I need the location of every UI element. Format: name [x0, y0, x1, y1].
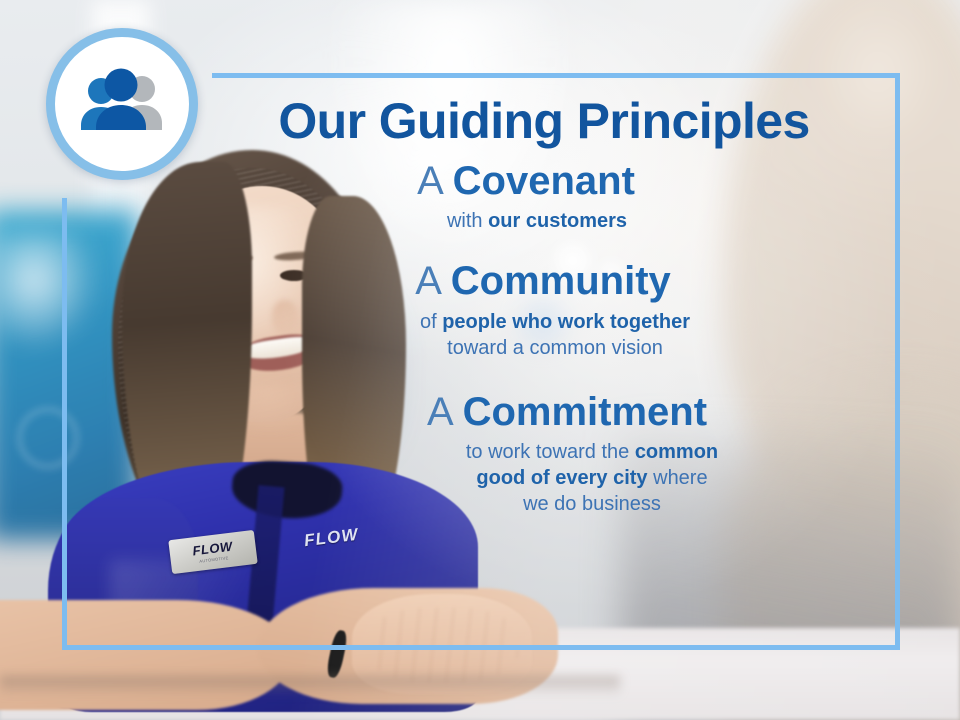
emphasis-text: good of every city [476, 467, 647, 489]
principle-heading: A Community [222, 260, 866, 302]
principle-description: to work toward the commongood of every c… [222, 439, 866, 517]
poster-root: FLOW AUTOMOTIVE FLOW [0, 0, 960, 720]
plain-text: toward a common vision [447, 337, 663, 359]
frame-border-left [62, 198, 67, 650]
principle-article: A [427, 390, 463, 434]
principle-keyword: Community [451, 259, 671, 303]
principle-description: of people who work togethertoward a comm… [222, 309, 866, 361]
principle-heading: A Covenant [222, 160, 866, 202]
plain-text: of [420, 311, 442, 333]
principle-article: A [417, 159, 453, 203]
principle-commitment: A Commitment to work toward the commongo… [222, 391, 866, 517]
principle-community: A Community of people who work togethert… [222, 260, 866, 360]
plain-text: we do business [523, 493, 661, 515]
principle-description-line: toward a common vision [244, 335, 866, 361]
emphasis-text: common [635, 441, 718, 463]
plain-text: with [447, 210, 488, 232]
principle-keyword: Commitment [463, 390, 707, 434]
principle-description-line: we do business [318, 491, 866, 517]
plain-text: to work toward the [466, 441, 635, 463]
people-group-icon [74, 68, 170, 140]
emphasis-text: people who work together [442, 311, 690, 333]
page-title: Our Guiding Principles [222, 96, 866, 146]
principle-description-line: of people who work together [244, 309, 866, 335]
principle-description-line: with our customers [222, 208, 852, 234]
principle-covenant: A Covenant with our customers [222, 160, 866, 234]
emphasis-text: our customers [488, 210, 627, 232]
frame-border-bottom [62, 645, 900, 650]
principle-article: A [415, 259, 451, 303]
principle-heading: A Commitment [222, 391, 866, 433]
arm-desk-shadow [0, 676, 620, 696]
principle-description-line: to work toward the common [318, 439, 866, 465]
people-group-badge [46, 28, 198, 180]
principle-description-line: good of every city where [318, 465, 866, 491]
plain-text: where [648, 467, 708, 489]
principle-description: with our customers [222, 208, 866, 234]
principle-keyword: Covenant [453, 159, 635, 203]
poster-content: Our Guiding Principles A Covenant with o… [212, 78, 896, 643]
